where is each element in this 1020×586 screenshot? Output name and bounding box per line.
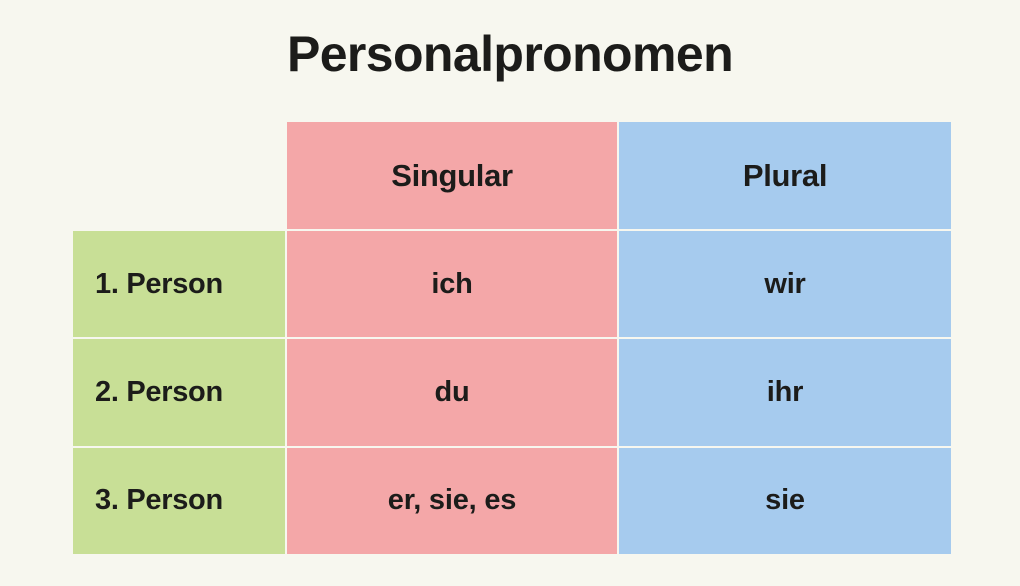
cell-1-person-singular: ich — [287, 231, 617, 337]
cell-3-person-plural: sie — [619, 448, 951, 554]
page-title: Personalpronomen — [0, 26, 1020, 84]
table-corner-cell — [73, 122, 285, 229]
row-header-3-person: 3. Person — [73, 448, 285, 554]
personal-pronouns-table: Singular Plural 1. Person ich wir 2. Per… — [73, 122, 947, 554]
row-header-1-person: 1. Person — [73, 231, 285, 337]
row-header-2-person: 2. Person — [73, 339, 285, 445]
column-header-plural: Plural — [619, 122, 951, 229]
cell-1-person-plural: wir — [619, 231, 951, 337]
cell-3-person-singular: er, sie, es — [287, 448, 617, 554]
cell-2-person-singular: du — [287, 339, 617, 445]
column-header-singular: Singular — [287, 122, 617, 229]
cell-2-person-plural: ihr — [619, 339, 951, 445]
